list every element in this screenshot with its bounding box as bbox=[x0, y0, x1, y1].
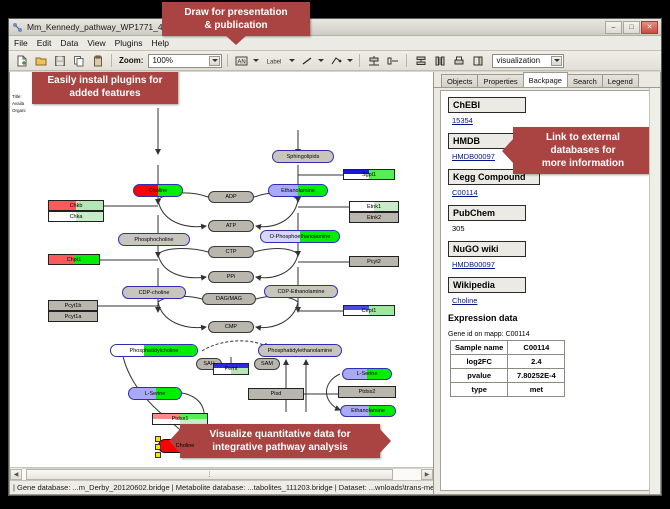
tab-search[interactable]: Search bbox=[567, 74, 603, 87]
title-bar: Mm_Kennedy_pathway_WP1771_45176.gpml – □… bbox=[9, 19, 661, 36]
table-cell-value: C00114 bbox=[508, 341, 565, 355]
node-label: DAG/MAG bbox=[216, 296, 242, 302]
pathway-canvas[interactable]: Title: Availa Organi bbox=[10, 72, 433, 468]
node-label: Ptdss2 bbox=[359, 389, 376, 395]
node-label: Chka bbox=[70, 214, 83, 220]
db-link-nugo[interactable]: HMDB00097 bbox=[452, 260, 656, 269]
side-panel: Objects Properties Backpage Search Legen… bbox=[434, 72, 661, 495]
status-text: | Gene database: ...m_Derby_20120602.bri… bbox=[13, 483, 434, 492]
metabolite-node[interactable]: L-Serine bbox=[342, 368, 392, 380]
cofactor-node[interactable]: DAG/MAG bbox=[202, 293, 256, 305]
node-label: Ethanolamine bbox=[351, 408, 385, 414]
distribute-tool-button[interactable] bbox=[431, 52, 448, 69]
callout-draw-line1: Draw for presentation bbox=[168, 6, 304, 19]
cofactor-node[interactable]: PPi bbox=[208, 271, 254, 283]
db-header-wikipedia: Wikipedia bbox=[448, 277, 526, 293]
node-label: Pisd bbox=[271, 391, 282, 397]
chevron-down-icon[interactable] bbox=[209, 56, 220, 66]
canvas-hscrollbar[interactable]: ◀ ⋮ ▶ bbox=[10, 467, 433, 480]
node-label: Chkb bbox=[70, 203, 83, 209]
pathvisio-window: Mm_Kennedy_pathway_WP1771_45176.gpml – □… bbox=[8, 18, 662, 496]
minimize-button[interactable]: – bbox=[605, 21, 622, 34]
node-label: ATP bbox=[226, 223, 236, 229]
expression-data-title: Expression data bbox=[448, 313, 656, 323]
node-label: Etnk1 bbox=[367, 204, 381, 210]
interaction-tool-button[interactable] bbox=[327, 52, 344, 69]
db-value-pubchem: 305 bbox=[452, 224, 656, 233]
gene-node[interactable]: Chka bbox=[48, 211, 104, 222]
gene-node[interactable]: Pisd bbox=[248, 388, 304, 400]
sidepanel-tool-button[interactable] bbox=[469, 52, 486, 69]
gene-node[interactable]: Cept1 bbox=[343, 305, 395, 316]
callout-links-line2: databases for bbox=[519, 144, 647, 157]
gene-node[interactable]: Ptdss2 bbox=[338, 386, 396, 398]
table-cell-value: 7.80252E-4 bbox=[508, 369, 565, 383]
db-header-chebi: ChEBI bbox=[448, 97, 526, 113]
tab-properties[interactable]: Properties bbox=[477, 74, 523, 87]
node-label: Chpt1 bbox=[67, 257, 82, 263]
table-cell-key: log2FC bbox=[451, 355, 508, 369]
scroll-left-arrow-icon[interactable]: ◀ bbox=[10, 469, 22, 480]
print-tool-button[interactable] bbox=[450, 52, 467, 69]
gene-node[interactable]: Chpt1 bbox=[48, 254, 100, 265]
node-label: Choline bbox=[149, 188, 168, 194]
line-tool-chevron-icon[interactable] bbox=[317, 54, 325, 68]
metabolite-node[interactable]: Ethanolamine bbox=[340, 405, 396, 417]
node-label: Phosphatidylethanolamine bbox=[268, 348, 333, 354]
shape-tool-button[interactable]: AN bbox=[233, 52, 250, 69]
node-label: Choline bbox=[176, 443, 195, 449]
node-label: Sphingolipids bbox=[287, 154, 320, 160]
node-label: Phosphocholine bbox=[134, 237, 173, 243]
window-controls: – □ ✕ bbox=[605, 21, 658, 34]
node-label: Pemt bbox=[225, 366, 238, 372]
callout-draw-arrow bbox=[225, 35, 247, 45]
metabolite-node[interactable]: CDP-Ethanolamine bbox=[264, 285, 338, 298]
table-row: log2FC 2.4 bbox=[451, 355, 565, 369]
maximize-button[interactable]: □ bbox=[623, 21, 640, 34]
open-file-button[interactable] bbox=[32, 52, 49, 69]
label-tool-button[interactable]: Label bbox=[262, 52, 286, 69]
toolbar: Zoom: 100% AN Label bbox=[9, 51, 661, 71]
callout-visualize-line1: Visualize quantitative data for bbox=[186, 428, 374, 441]
label-tool-chevron-icon[interactable] bbox=[288, 54, 296, 68]
gene-node[interactable]: Pcyt1a bbox=[48, 311, 98, 322]
node-label: Ptdss1 bbox=[172, 416, 189, 422]
table-row: type met bbox=[451, 383, 565, 397]
zoom-combobox[interactable]: 100% bbox=[148, 54, 222, 68]
node-label: CDP-Ethanolamine bbox=[277, 289, 324, 295]
svg-text:AN: AN bbox=[238, 59, 246, 65]
node-label: Pcyt1b bbox=[65, 303, 82, 309]
menu-file[interactable]: File bbox=[14, 38, 28, 48]
metabolite-node[interactable]: O-Phosphoethanolamine bbox=[260, 230, 340, 243]
hscroll-track[interactable]: ⋮ bbox=[22, 468, 421, 480]
toolbar-separator bbox=[111, 54, 112, 67]
cofactor-node[interactable]: CTP bbox=[208, 246, 254, 258]
toolbar-separator-4 bbox=[406, 54, 407, 67]
callout-links: Link to external databases for more info… bbox=[513, 127, 653, 174]
callout-links-line3: more information bbox=[519, 157, 647, 170]
menu-plugins[interactable]: Plugins bbox=[115, 38, 143, 48]
gene-node[interactable]: Etnk1 bbox=[349, 201, 399, 212]
canvas-pane: Title: Availa Organi bbox=[9, 72, 434, 495]
node-label: Pcyt1a bbox=[65, 314, 82, 320]
node-label: SAH bbox=[203, 361, 214, 367]
callout-plugins: Easily install plugins for added feature… bbox=[32, 72, 178, 104]
menu-bar: File Edit Data View Plugins Help bbox=[9, 36, 661, 51]
node-label: Ethanolamine bbox=[281, 188, 315, 194]
group-tool-button[interactable] bbox=[384, 52, 401, 69]
cofactor-node[interactable]: ADP bbox=[208, 191, 254, 203]
cofactor-node[interactable]: CMP bbox=[208, 321, 254, 333]
save-file-button[interactable] bbox=[51, 52, 68, 69]
backpage-content: ChEBI 15354 HMDB HMDB00097 Kegg Compound… bbox=[440, 90, 657, 491]
chevron-down-icon-2[interactable] bbox=[551, 56, 562, 66]
new-file-button[interactable] bbox=[13, 52, 30, 69]
tab-legend[interactable]: Legend bbox=[602, 74, 639, 87]
stack-tool-button[interactable] bbox=[412, 52, 429, 69]
toolbar-separator-3 bbox=[359, 54, 360, 67]
callout-visualize-text: Visualize quantitative data for integrat… bbox=[180, 424, 380, 458]
node-label: CDP-choline bbox=[139, 290, 170, 296]
callout-visualize-arrow-right bbox=[379, 428, 391, 454]
callout-links-text: Link to external databases for more info… bbox=[513, 127, 653, 174]
callout-plugins-text: Easily install plugins for added feature… bbox=[32, 72, 178, 104]
node-label: PPi bbox=[227, 274, 236, 280]
cofactor-node[interactable]: ATP bbox=[208, 220, 254, 232]
callout-links-arrow bbox=[502, 138, 514, 164]
gene-id-line: Gene id on mapp: C00114 bbox=[448, 331, 656, 338]
resize-handle-nw[interactable] bbox=[155, 436, 161, 442]
tab-backpage[interactable]: Backpage bbox=[523, 72, 568, 87]
metabolite-node[interactable]: Phosphatidylcholine bbox=[110, 344, 198, 357]
copy-button[interactable] bbox=[70, 52, 87, 69]
node-label: CTP bbox=[226, 249, 237, 255]
align-tool-button[interactable] bbox=[365, 52, 382, 69]
zoom-value: 100% bbox=[152, 56, 172, 65]
metabolite-node[interactable]: Ethanolamine bbox=[268, 184, 328, 197]
gene-node[interactable]: Chkb bbox=[48, 200, 104, 211]
node-label: L-Serine bbox=[145, 391, 166, 397]
table-cell-key: pvalue bbox=[451, 369, 508, 383]
table-cell-key: Sample name bbox=[451, 341, 508, 355]
callout-draw-text: Draw for presentation & publication bbox=[162, 2, 310, 36]
work-area: Title: Availa Organi bbox=[9, 72, 661, 495]
shape-tool-chevron-icon[interactable] bbox=[252, 54, 260, 68]
cofactor-node[interactable]: SAM bbox=[254, 358, 280, 370]
paste-button[interactable] bbox=[89, 52, 106, 69]
status-bar: | Gene database: ...m_Derby_20120602.bri… bbox=[10, 480, 433, 494]
node-label: SAM bbox=[261, 361, 273, 367]
metabolite-node[interactable]: CDP-choline bbox=[122, 286, 186, 299]
table-cell-value: met bbox=[508, 383, 565, 397]
tab-objects[interactable]: Objects bbox=[441, 74, 478, 87]
metabolite-node[interactable]: Phosphocholine bbox=[118, 233, 190, 246]
line-tool-button[interactable] bbox=[298, 52, 315, 69]
callout-links-line1: Link to external bbox=[519, 131, 647, 144]
callout-draw-line2: & publication bbox=[168, 19, 304, 32]
resize-handle-sw[interactable] bbox=[155, 452, 161, 458]
hscroll-thumb[interactable]: ⋮ bbox=[26, 469, 393, 480]
svg-text:Label: Label bbox=[267, 59, 282, 65]
metabolite-node[interactable]: Choline bbox=[133, 184, 183, 197]
node-label: ADP bbox=[225, 194, 236, 200]
menu-view[interactable]: View bbox=[87, 38, 105, 48]
interaction-tool-chevron-icon[interactable] bbox=[346, 54, 354, 68]
db-link-wikipedia[interactable]: Choline bbox=[452, 296, 656, 305]
node-label: Sgpl1 bbox=[362, 172, 376, 178]
callout-visualize: Visualize quantitative data for integrat… bbox=[180, 424, 380, 458]
table-row: pvalue 7.80252E-4 bbox=[451, 369, 565, 383]
pathway-icon bbox=[12, 22, 23, 33]
gene-node[interactable]: Pcyt1b bbox=[48, 300, 98, 311]
node-label: Etnk2 bbox=[367, 215, 381, 221]
db-link-kegg[interactable]: C00114 bbox=[452, 188, 656, 197]
menu-help[interactable]: Help bbox=[152, 38, 169, 48]
db-link-chebi[interactable]: 15354 bbox=[452, 116, 656, 125]
resize-handle-w[interactable] bbox=[155, 444, 161, 450]
metabolite-node[interactable]: Phosphatidylethanolamine bbox=[258, 344, 342, 357]
table-cell-key: type bbox=[451, 383, 508, 397]
callout-draw: Draw for presentation & publication bbox=[162, 2, 310, 36]
node-label: CMP bbox=[225, 324, 237, 330]
callout-plugins-line1: Easily install plugins for bbox=[38, 74, 172, 87]
db-header-pubchem: PubChem bbox=[448, 205, 526, 221]
node-label: O-Phosphoethanolamine bbox=[270, 234, 331, 240]
callout-plugins-line2: added features bbox=[38, 87, 172, 100]
zoom-label: Zoom: bbox=[119, 56, 143, 65]
menu-data[interactable]: Data bbox=[60, 38, 78, 48]
metabolite-node[interactable]: Sphingolipids bbox=[272, 150, 334, 163]
gene-node[interactable]: Pcyt2 bbox=[349, 256, 399, 267]
scroll-right-arrow-icon[interactable]: ▶ bbox=[421, 469, 433, 480]
expression-table: Sample name C00114 log2FC 2.4 pvalue 7.8… bbox=[450, 340, 565, 397]
visualization-value: visualization bbox=[496, 56, 540, 65]
callout-visualize-line2: integrative pathway analysis bbox=[186, 441, 374, 454]
node-label: L-Serine bbox=[357, 371, 378, 377]
gene-node[interactable]: Pemt bbox=[213, 363, 249, 375]
gene-node[interactable]: Etnk2 bbox=[349, 212, 399, 223]
close-button[interactable]: ✕ bbox=[641, 21, 658, 34]
callout-visualize-arrow-left bbox=[169, 428, 181, 454]
visualization-combobox[interactable]: visualization bbox=[492, 54, 564, 68]
node-label: Phosphatidylcholine bbox=[130, 348, 179, 354]
toolbar-separator-2 bbox=[227, 54, 228, 67]
db-header-nugo: NuGO wiki bbox=[448, 241, 526, 257]
metabolite-node[interactable]: L-Serine bbox=[128, 387, 182, 400]
side-panel-tabs: Objects Properties Backpage Search Legen… bbox=[434, 72, 660, 88]
node-label: Cept1 bbox=[362, 308, 377, 314]
side-panel-vscrollbar[interactable] bbox=[649, 88, 660, 494]
node-label: Pcyt2 bbox=[367, 259, 381, 265]
table-row: Sample name C00114 bbox=[451, 341, 565, 355]
gene-node[interactable]: Sgpl1 bbox=[343, 169, 395, 180]
menu-edit[interactable]: Edit bbox=[37, 38, 52, 48]
table-cell-value: 2.4 bbox=[508, 355, 565, 369]
